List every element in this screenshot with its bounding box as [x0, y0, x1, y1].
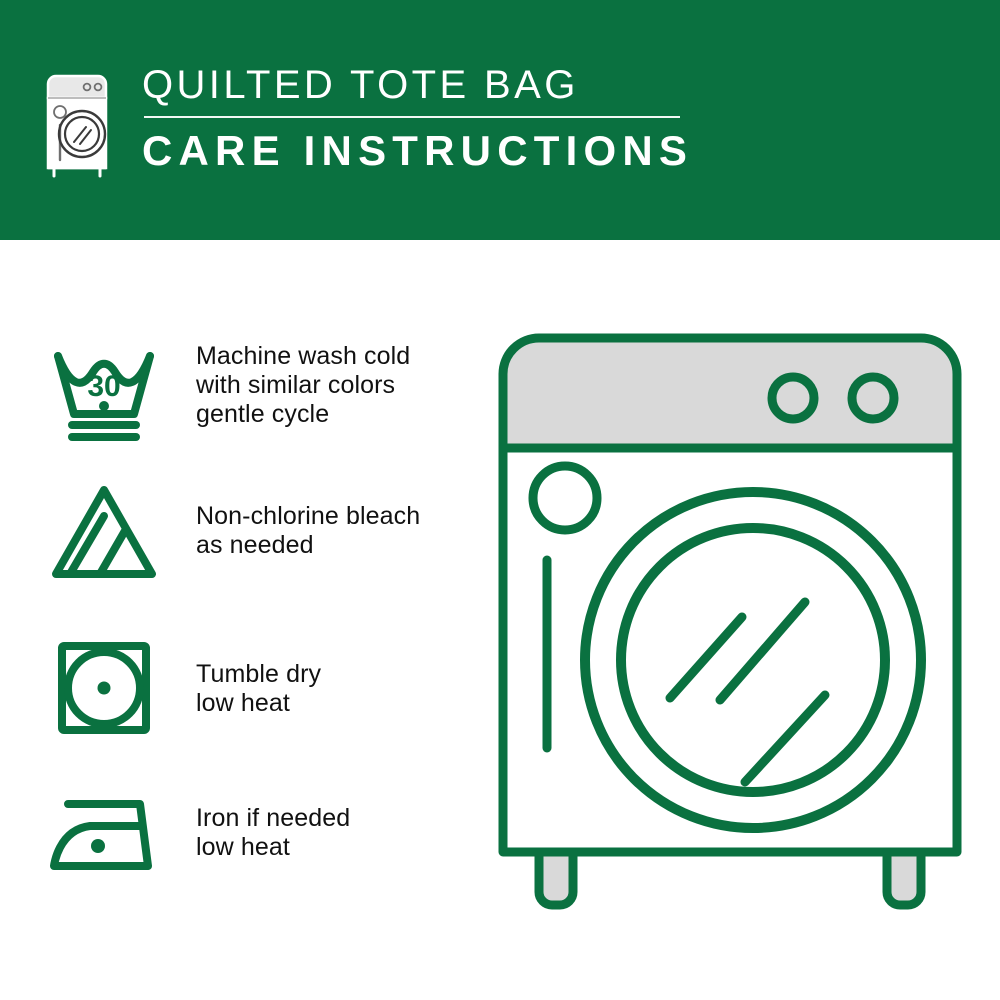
low-heat-dot [98, 682, 111, 695]
care-symbol-wrapper [48, 640, 160, 740]
care-row-bleach: Non-chlorine bleach as needed [48, 482, 420, 582]
care-row-machine-wash: 30 Machine wash cold with similar colors… [48, 342, 410, 442]
header-banner: QUILTED TOTE BAG CARE INSTRUCTIONS [0, 0, 1000, 240]
care-symbol-wrapper [48, 788, 160, 888]
gentle-cycle-dot [99, 401, 109, 411]
care-label-bleach: Non-chlorine bleach as needed [196, 482, 420, 560]
wash-tub-30-gentle-icon: 30 [48, 342, 160, 442]
low-heat-dot [91, 839, 105, 853]
care-row-iron: Iron if needed low heat [48, 788, 350, 888]
care-label-machine-wash: Machine wash cold with similar colors ge… [196, 342, 410, 429]
care-symbol-wrapper: 30 [48, 342, 160, 442]
care-symbol-wrapper [48, 482, 160, 582]
care-instructions-page: QUILTED TOTE BAG CARE INSTRUCTIONS 30 [0, 0, 1000, 1000]
foot-right [887, 852, 921, 905]
care-row-tumble-dry: Tumble dry low heat [48, 640, 321, 740]
iron-low-heat-icon [48, 788, 160, 888]
title-divider [144, 116, 680, 118]
front-load-washing-machine-illustration [495, 330, 965, 930]
care-label-iron: Iron if needed low heat [196, 788, 350, 862]
triangle-non-chlorine-bleach-icon [48, 482, 160, 582]
wash-temperature-value: 30 [87, 370, 120, 403]
foot-left [539, 852, 573, 905]
header-title-block: QUILTED TOTE BAG CARE INSTRUCTIONS [142, 62, 693, 176]
page-title: QUILTED TOTE BAG [142, 62, 693, 108]
page-subtitle: CARE INSTRUCTIONS [142, 126, 693, 176]
care-instruction-list: 30 Machine wash cold with similar colors… [0, 240, 480, 1000]
tumble-dry-low-heat-icon [48, 640, 160, 740]
header-content: QUILTED TOTE BAG CARE INSTRUCTIONS [42, 62, 693, 180]
washing-machine-icon [42, 72, 112, 180]
care-label-tumble-dry: Tumble dry low heat [196, 640, 321, 718]
